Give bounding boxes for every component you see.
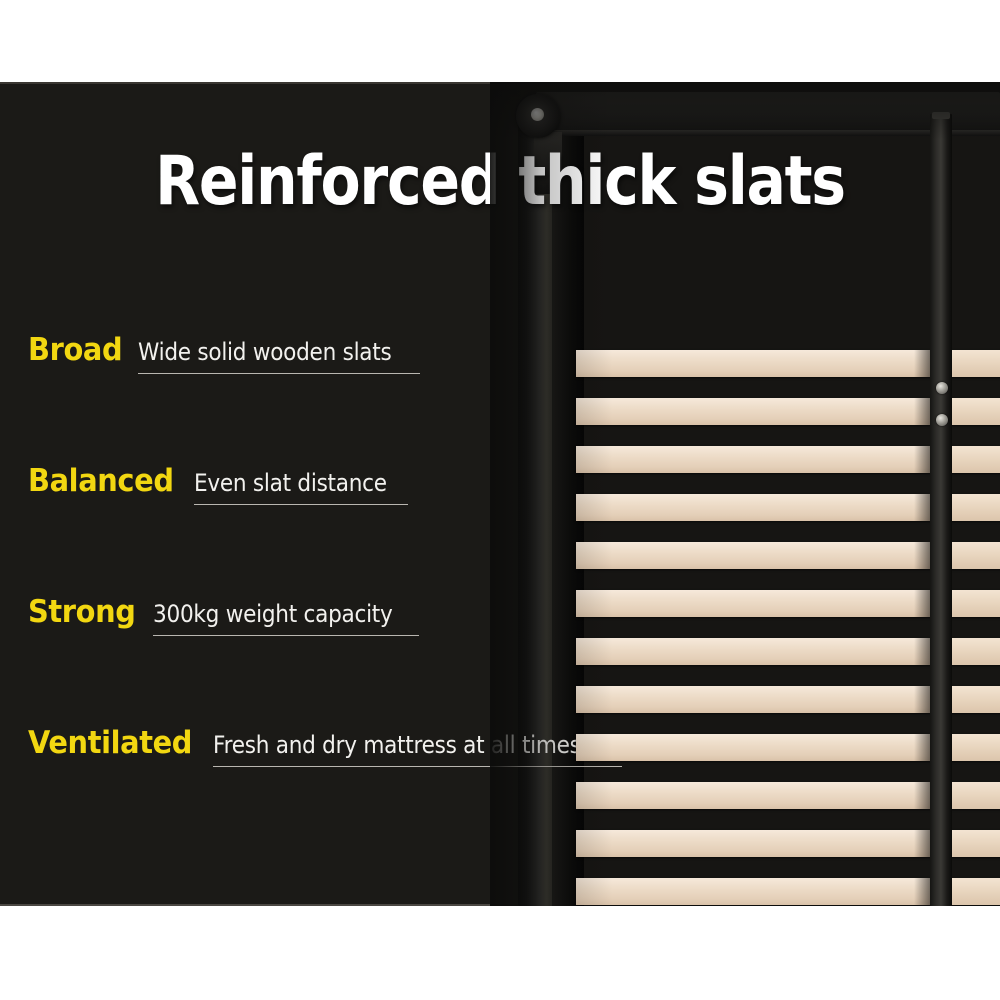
wooden-slat (950, 494, 1000, 521)
dark-content-panel: Reinforced thick slats Broad Wide solid … (0, 82, 1000, 906)
feature-term: Balanced (28, 463, 174, 499)
wooden-slat (950, 782, 1000, 809)
wooden-slat (950, 590, 1000, 617)
wooden-slat (950, 350, 1000, 377)
feature-description: Even slat distance (194, 469, 387, 497)
feature-list: Broad Wide solid wooden slats Balanced E… (0, 332, 520, 856)
feature-description-underline: Even slat distance (194, 469, 408, 505)
feature-description-underline: 300kg weight capacity (153, 600, 419, 636)
wooden-slat (576, 590, 934, 617)
feature-item-strong: Strong 300kg weight capacity (0, 594, 520, 725)
wooden-slat (576, 542, 934, 569)
product-feature-poster: Reinforced thick slats Broad Wide solid … (0, 0, 1000, 1000)
feature-item-broad: Broad Wide solid wooden slats (0, 332, 520, 463)
wooden-slat (576, 446, 934, 473)
wooden-slat (950, 398, 1000, 425)
wooden-slat (950, 542, 1000, 569)
feature-description: Wide solid wooden slats (138, 338, 391, 366)
wooden-slat (576, 350, 934, 377)
feature-description: 300kg weight capacity (153, 600, 393, 628)
wooden-slat (576, 398, 934, 425)
center-rail-cap (932, 112, 950, 119)
wooden-slat (576, 782, 934, 809)
wooden-slat (950, 878, 1000, 905)
feature-term: Strong (28, 594, 136, 630)
page-title: Reinforced thick slats (70, 142, 930, 221)
feature-term: Ventilated (28, 725, 192, 761)
wooden-slat (950, 734, 1000, 761)
wooden-slat (950, 686, 1000, 713)
wooden-slat (576, 494, 934, 521)
screw-icon (936, 414, 948, 426)
center-support-rail (930, 114, 952, 906)
feature-term: Broad (28, 332, 122, 368)
wooden-slat (950, 830, 1000, 857)
wooden-slat (576, 686, 934, 713)
wooden-slat (576, 638, 934, 665)
wooden-slat (576, 734, 934, 761)
wooden-slat (950, 638, 1000, 665)
feature-item-balanced: Balanced Even slat distance (0, 463, 520, 594)
feature-item-ventilated: Ventilated Fresh and dry mattress at all… (0, 725, 520, 856)
screw-icon (936, 382, 948, 394)
feature-description-underline: Wide solid wooden slats (138, 338, 420, 374)
feature-description-underline: Fresh and dry mattress at all times (213, 731, 622, 767)
wooden-slat (950, 446, 1000, 473)
wooden-slat (576, 830, 934, 857)
feature-description: Fresh and dry mattress at all times (213, 731, 581, 759)
wooden-slat (576, 878, 934, 905)
corner-bolt-knob-icon (516, 94, 560, 138)
